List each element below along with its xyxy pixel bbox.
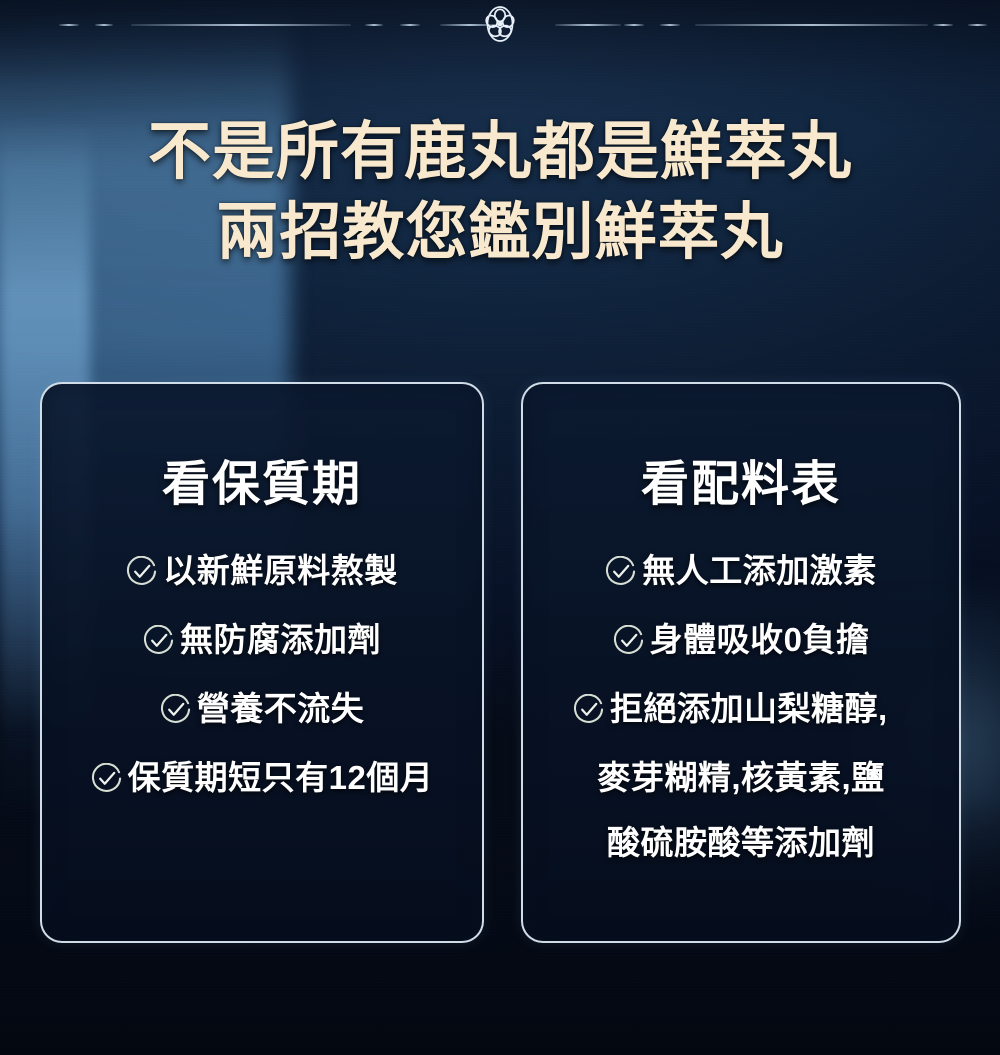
list-item-label: 無防腐添加劑 [180,619,381,662]
divider-dash [95,24,114,26]
page-title-line-2: 兩招教您鑑別鮮萃丸 [0,200,1000,267]
check-circle-icon [143,625,174,656]
top-divider [0,0,1000,48]
divider-dash [365,24,382,26]
card-ingredients-list: 無人工添加激素 身體吸收0負擔 [523,550,959,864]
divider-dash [660,24,680,26]
list-item-label: 保質期短只有12個月 [128,757,434,800]
divider-dash [555,24,622,26]
list-item-label: 拒絕添加山梨糖醇, [610,688,888,731]
plum-blossom-icon [478,2,522,46]
list-item-continuation: 麥芽糊精,核黃素,鹽 [537,757,945,800]
divider-dash [624,24,644,26]
card-shelf-life-title: 看保質期 [42,444,482,514]
check-circle-icon [126,556,157,587]
list-item: 保質期短只有12個月 [56,757,468,800]
list-item-label: 身體吸收0負擔 [650,619,870,662]
divider-dash [59,24,79,26]
check-circle-icon [605,556,636,587]
divider-dash [400,24,420,26]
divider-dash [968,24,987,26]
page-title: 不是所有鹿丸都是鮮萃丸 兩招教您鑑別鮮萃丸 [0,118,1000,267]
card-shelf-life: 看保質期 以新鮮原料熬製 [40,382,484,943]
card-shelf-life-list: 以新鮮原料熬製 無防腐添加劑 [42,550,482,800]
divider-dash [695,24,928,26]
list-item-label: 無人工添加激素 [642,550,877,593]
divider-dash [131,24,351,26]
list-item: 以新鮮原料熬製 [56,550,468,593]
card-ingredients: 看配料表 無人工添加激素 [521,382,961,943]
list-item: 拒絕添加山梨糖醇, [537,688,945,731]
list-item: 無人工添加激素 [537,550,945,593]
promo-page: 不是所有鹿丸都是鮮萃丸 兩招教您鑑別鮮萃丸 看保質期 以新鮮原料熬製 [0,0,1000,1055]
divider-dash [933,24,953,26]
check-circle-icon [573,694,604,725]
list-item: 營養不流失 [56,688,468,731]
check-circle-icon [91,763,122,794]
page-title-line-1: 不是所有鹿丸都是鮮萃丸 [0,118,1000,186]
list-item: 無防腐添加劑 [56,619,468,662]
card-ingredients-title: 看配料表 [523,444,959,514]
list-item-label: 營養不流失 [197,688,365,731]
feature-cards: 看保質期 以新鮮原料熬製 [0,382,1000,947]
list-item-label: 以新鮮原料熬製 [163,550,398,593]
list-item-continuation: 酸硫胺酸等添加劑 [537,822,945,865]
check-circle-icon [160,694,191,725]
list-item: 身體吸收0負擔 [537,619,945,662]
check-circle-icon [613,625,644,656]
